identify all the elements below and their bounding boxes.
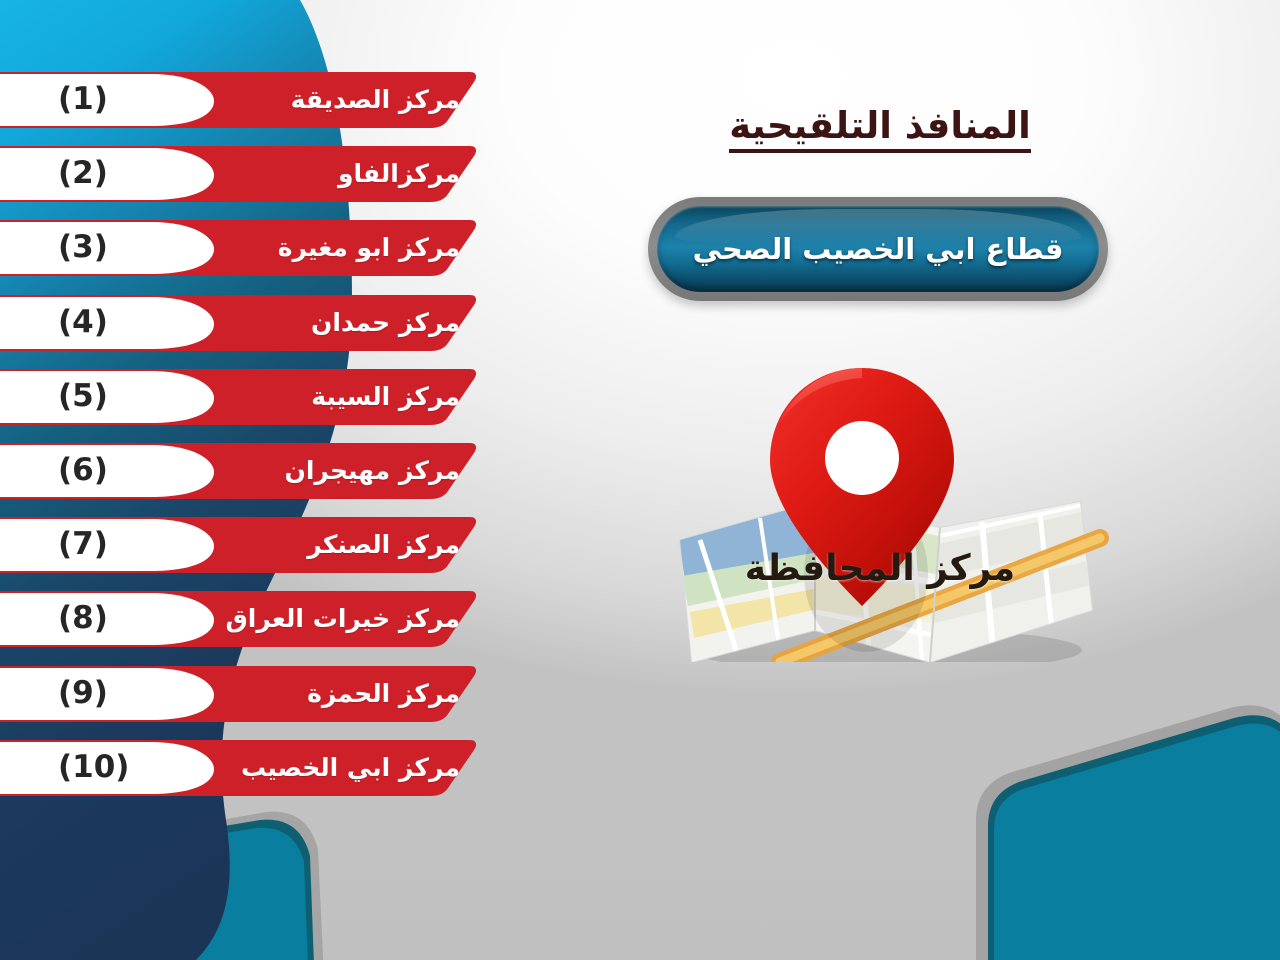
center-row[interactable]: (7)مركز الصنكر <box>0 517 500 573</box>
sector-badge-button[interactable]: قطاع ابي الخصيب الصحي <box>648 197 1108 301</box>
folded-map-icon <box>630 362 1130 662</box>
center-number: (5) <box>58 369 108 425</box>
center-row[interactable]: (6)مركز مهيجران <box>0 443 500 499</box>
center-number: (1) <box>58 72 108 128</box>
sector-badge-label: قطاع ابي الخصيب الصحي <box>693 232 1064 266</box>
sector-badge-inner: قطاع ابي الخصيب الصحي <box>657 206 1099 292</box>
center-number: (8) <box>58 591 108 647</box>
center-row[interactable]: (8)مركز خيرات العراق <box>0 591 500 647</box>
map-caption-label: مركز المحافظة <box>630 548 1130 589</box>
center-number: (9) <box>58 666 108 722</box>
vaccination-centers-list: (1)مركز الصديقة(2)مركزالفاو(3)مركز ابو م… <box>0 0 520 960</box>
center-name: مركزالفاو <box>338 146 460 202</box>
center-number: (3) <box>58 220 108 276</box>
center-row[interactable]: (3)مركز ابو مغيرة <box>0 220 500 276</box>
page-title: المنافذ التلقيحية <box>640 104 1120 153</box>
center-name: مركز الصديقة <box>291 72 460 128</box>
infographic-slide: (1)مركز الصديقة(2)مركزالفاو(3)مركز ابو م… <box>0 0 1280 960</box>
center-name: مركز الصنكر <box>307 517 460 573</box>
center-row[interactable]: (9)مركز الحمزة <box>0 666 500 722</box>
center-number: (4) <box>58 295 108 351</box>
page-title-text: المنافذ التلقيحية <box>729 104 1031 153</box>
center-name: مركز ابي الخصيب <box>241 740 460 796</box>
corner-decoration-bottom-right <box>930 700 1280 960</box>
center-name: مركز حمدان <box>311 295 460 351</box>
center-number: (6) <box>58 443 108 499</box>
center-row[interactable]: (4)مركز حمدان <box>0 295 500 351</box>
center-name: مركز ابو مغيرة <box>278 220 460 276</box>
center-row[interactable]: (5)مركز السيبة <box>0 369 500 425</box>
center-name: مركز مهيجران <box>285 443 461 499</box>
center-name: مركز السيبة <box>311 369 460 425</box>
center-row[interactable]: (2)مركزالفاو <box>0 146 500 202</box>
center-row[interactable]: (10)مركز ابي الخصيب <box>0 740 500 796</box>
center-number: (2) <box>58 146 108 202</box>
center-name: مركز الحمزة <box>307 666 460 722</box>
center-name: مركز خيرات العراق <box>225 591 460 647</box>
center-number: (10) <box>58 740 129 796</box>
center-number: (7) <box>58 517 108 573</box>
center-row[interactable]: (1)مركز الصديقة <box>0 72 500 128</box>
